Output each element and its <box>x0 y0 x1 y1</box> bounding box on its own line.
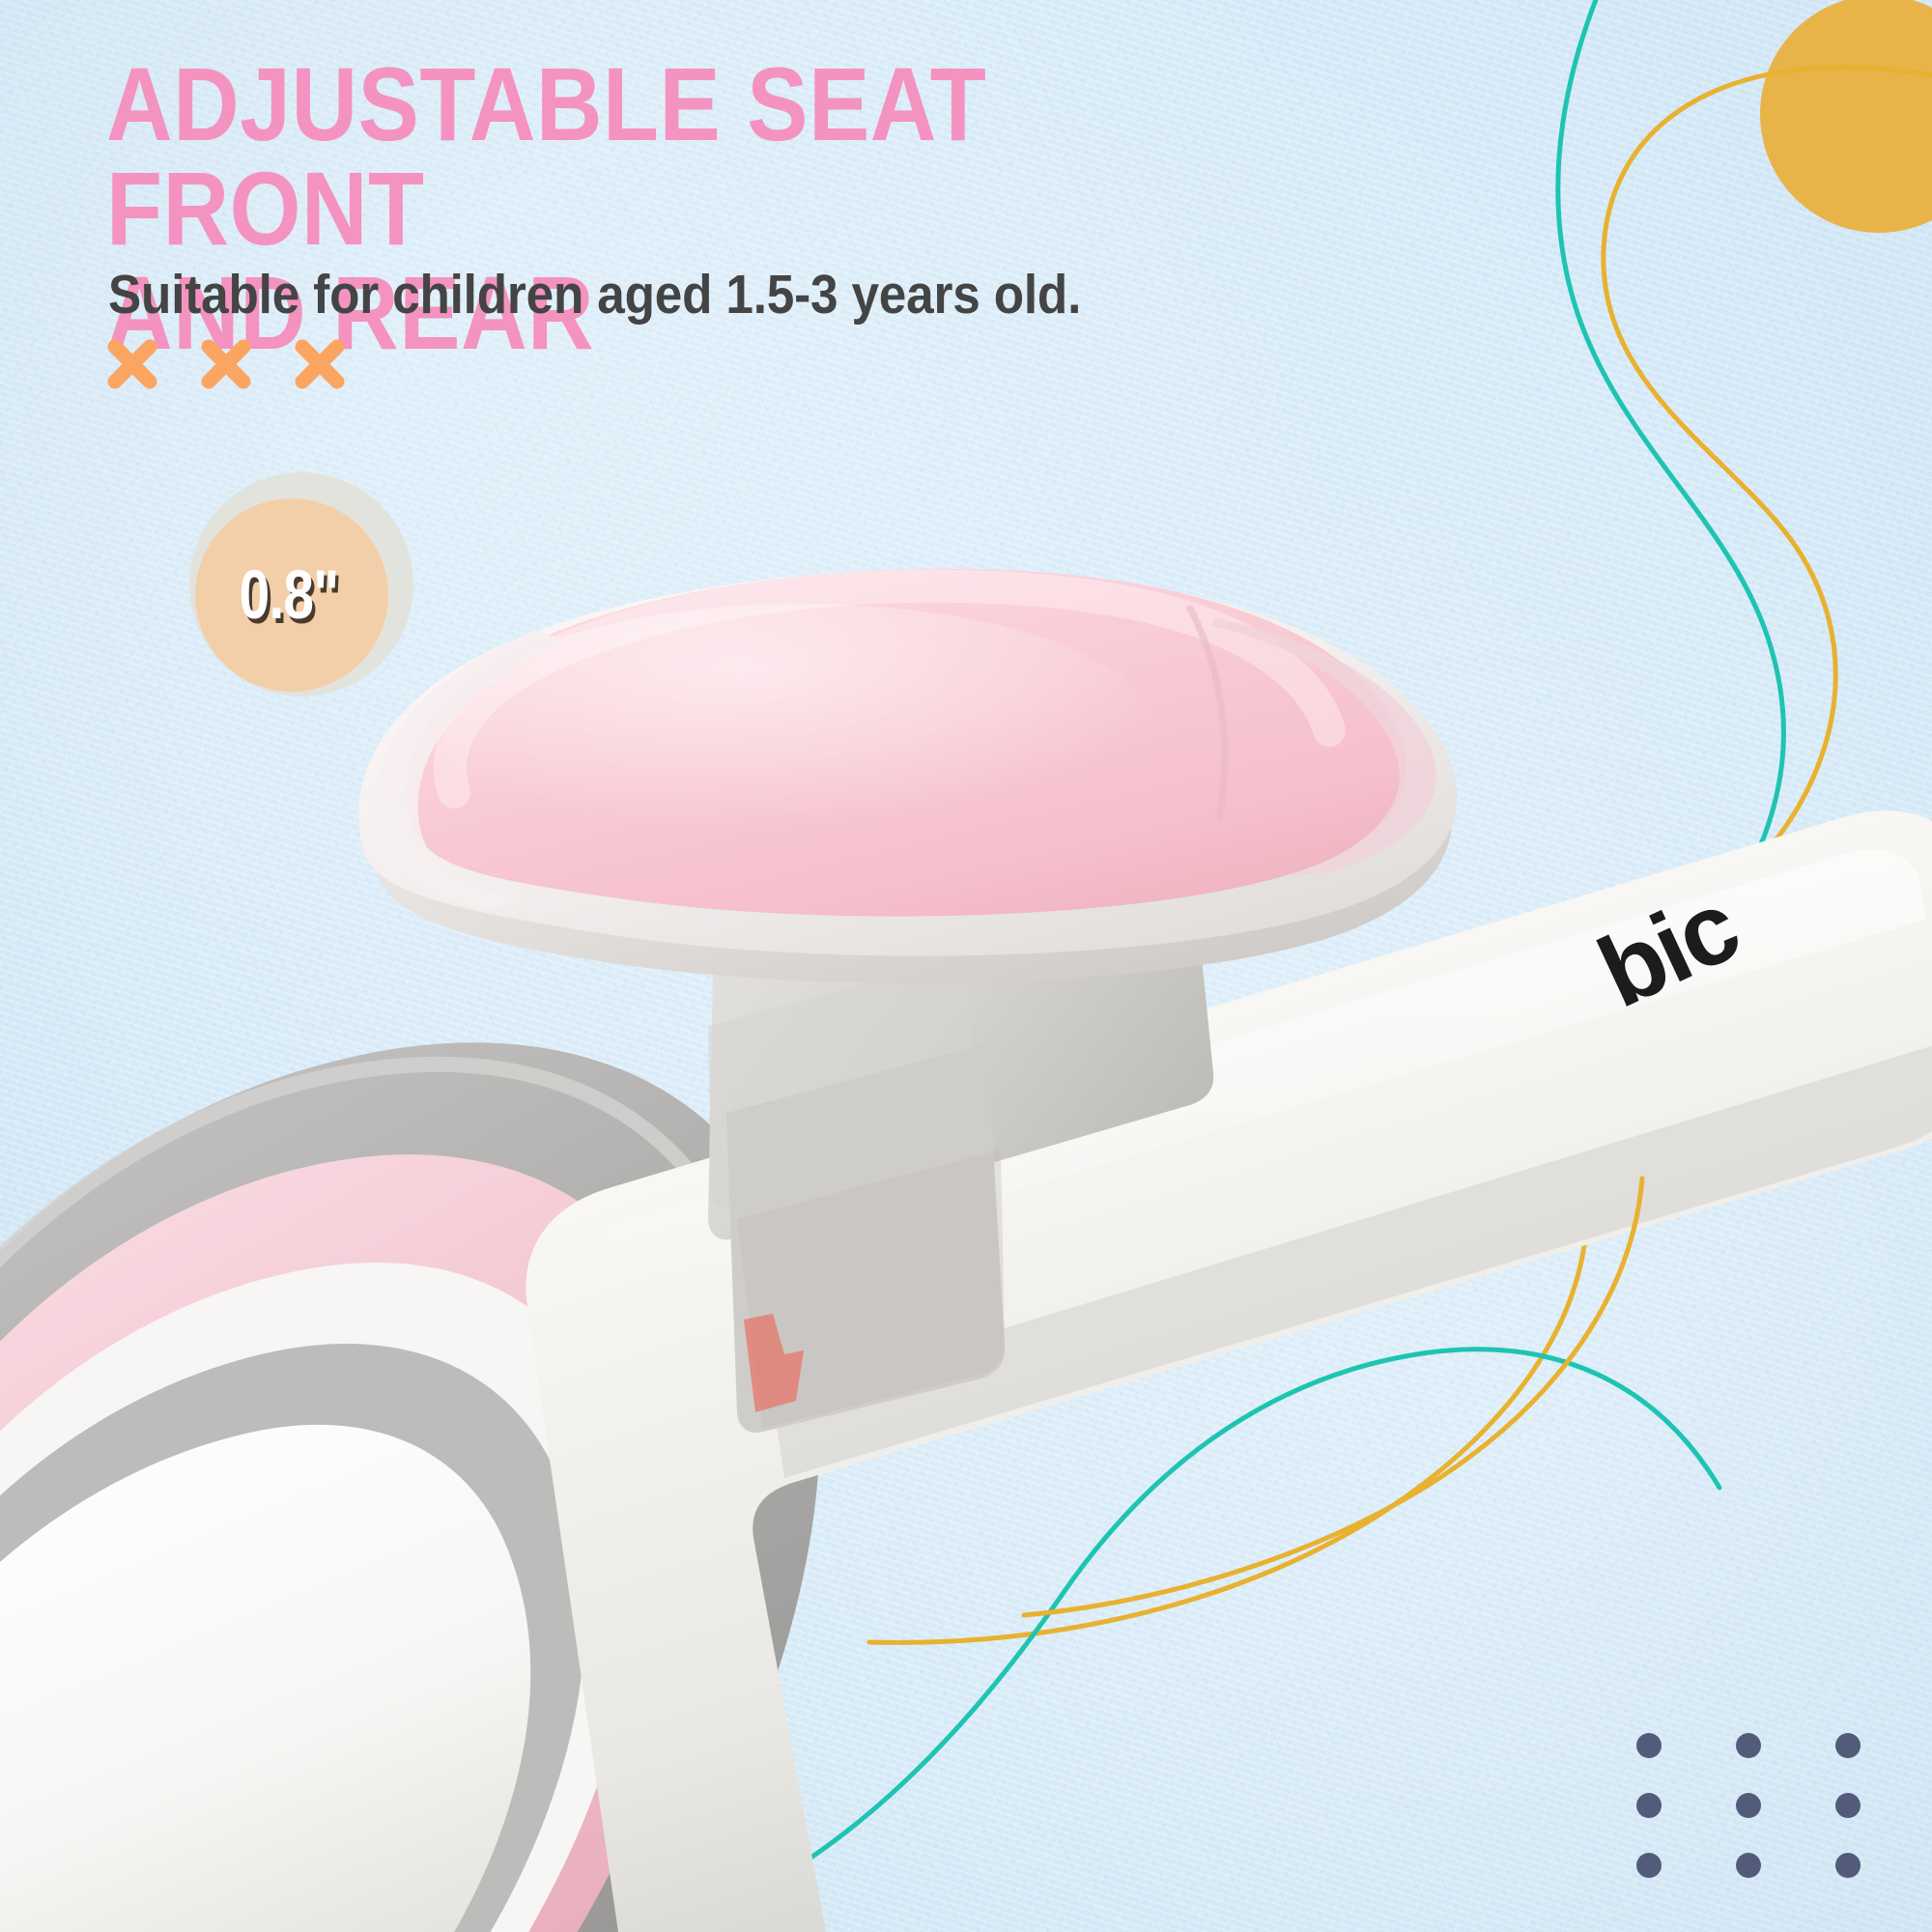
tire-highlight <box>0 1065 734 1671</box>
x-marks-decoration <box>104 336 348 392</box>
rim-pink <box>0 1154 710 1932</box>
x-mark-icon <box>292 336 348 392</box>
frame-lower-shadow <box>773 1032 1932 1478</box>
seat-base-white <box>358 569 1457 955</box>
tire <box>0 1042 820 1932</box>
gold-curve-decoration-bottom <box>869 1169 1587 1642</box>
seat-rear-lip <box>1211 618 1436 877</box>
seat-post-bracket <box>708 844 1213 1433</box>
seat-post-front-face <box>708 956 976 1208</box>
rim-inner-white <box>0 1263 639 1932</box>
wheel-disc-gray <box>0 1344 584 1932</box>
seat-post-column <box>708 844 1213 1239</box>
brand-logo-text: bic <box>1582 869 1754 1032</box>
product-feature-image: bic ADJUSTABLE SEAT FRONT AND REAR Suita… <box>0 0 1932 1932</box>
seat-coral-tab <box>744 1314 804 1412</box>
bike-seat <box>358 569 1457 1412</box>
measurement-badge: 0.8" <box>189 472 413 696</box>
seat-cushion-sheen <box>444 604 1159 865</box>
seat-shell-base <box>373 594 1452 983</box>
seat-cushion-highlight <box>450 586 1329 792</box>
x-mark-icon <box>104 336 160 392</box>
gold-circle-decoration <box>1760 0 1932 233</box>
teal-curve-decoration-top <box>1558 0 1784 1198</box>
seat-seam-line <box>1190 609 1225 817</box>
x-mark-icon <box>198 336 254 392</box>
subtitle-text: Suitable for children aged 1.5-3 years o… <box>108 263 1081 327</box>
dot-grid-icon <box>1636 1733 1861 1878</box>
seat-cushion-pink <box>407 569 1406 917</box>
seat-clamp-stem <box>726 1043 1005 1433</box>
badge-value: 0.8" <box>210 472 369 718</box>
seat-clamp-stem-shadow <box>737 1150 1005 1428</box>
gold-curve-foreground <box>1024 1179 1642 1615</box>
teal-curve-decoration-bottom <box>734 1350 1719 1903</box>
gold-curve-decoration-left <box>0 1210 976 1381</box>
front-wheel <box>0 1042 820 1932</box>
wheel-hub-white <box>0 1425 530 1932</box>
